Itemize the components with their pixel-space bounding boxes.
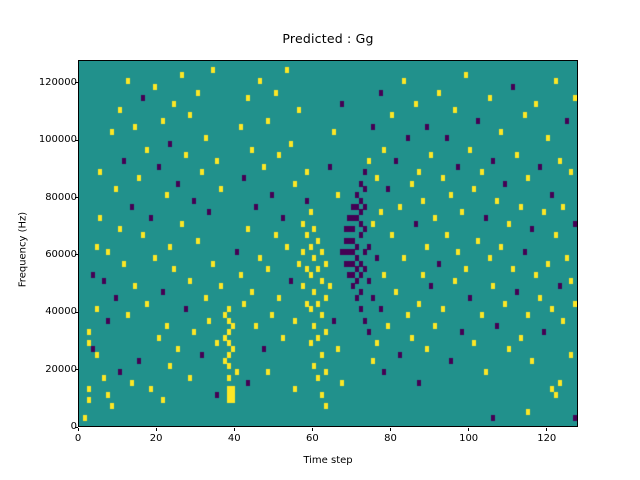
matplotlib-figure: Predicted : Gg 0200004000060000800001000… [0, 0, 640, 480]
page-title: Predicted : Gg [78, 31, 578, 46]
x-tick-mark [234, 428, 235, 432]
heatmap-axes[interactable] [78, 60, 578, 427]
y-tick-label: 0 [71, 422, 77, 432]
x-tick-label: 80 [384, 434, 397, 444]
x-tick-mark [312, 428, 313, 432]
x-tick-label: 120 [537, 434, 556, 444]
x-tick-label: 0 [75, 434, 81, 444]
x-tick-mark [468, 428, 469, 432]
y-tick-label: 60000 [45, 250, 77, 260]
y-tick-label: 100000 [39, 135, 77, 145]
heatmap-image [79, 61, 577, 426]
x-tick-label: 20 [150, 434, 163, 444]
x-tick-label: 100 [459, 434, 478, 444]
x-tick-label: 40 [228, 434, 241, 444]
x-tick-mark [78, 428, 79, 432]
y-tick-label: 40000 [45, 307, 77, 317]
y-tick-label: 20000 [45, 365, 77, 375]
x-axis-label: Time step [78, 455, 578, 466]
x-tick-label: 60 [306, 434, 319, 444]
x-tick-mark [390, 428, 391, 432]
x-tick-mark [156, 428, 157, 432]
y-tick-label: 120000 [39, 78, 77, 88]
y-tick-label: 80000 [45, 193, 77, 203]
y-axis-label: Frequency (Hz) [18, 189, 29, 309]
x-tick-mark [546, 428, 547, 432]
